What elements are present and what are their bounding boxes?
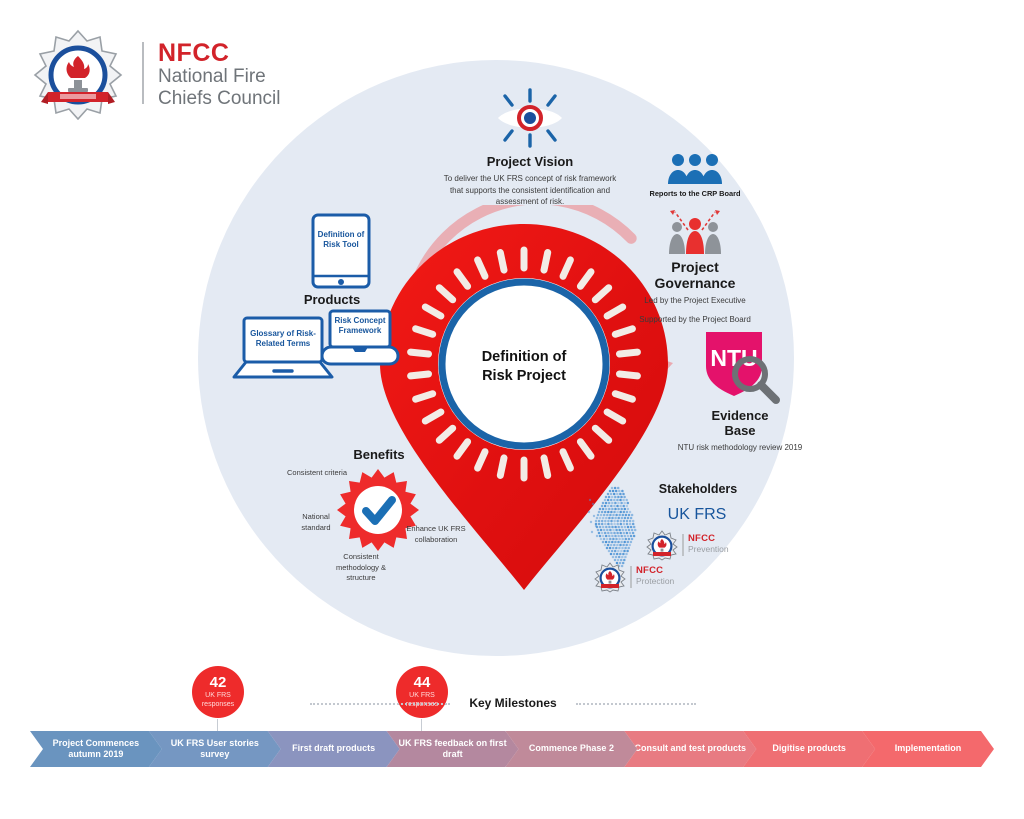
timeline-step[interactable]: Implementation xyxy=(862,731,994,767)
response-count: 42 xyxy=(210,675,227,690)
response-badge: 44 UK FRS responses xyxy=(396,666,448,718)
center-pin-label: Definition of Risk Project xyxy=(452,348,596,386)
project-vision-block: Project Vision To deliver the UK FRS con… xyxy=(430,88,630,208)
evidence-base-title: Evidence Base xyxy=(672,408,808,439)
nfcc-protection-logo: NFCC Protection xyxy=(594,562,704,594)
nfcc-protection-acronym: NFCC xyxy=(636,565,663,576)
timeline-step[interactable]: Commence Phase 2 xyxy=(506,731,638,767)
stakeholders-block: Stakeholders UK FRS NFCC Prevention NFCC… xyxy=(586,478,766,603)
governance-title-line-2: Governance xyxy=(620,275,770,291)
timeline-connector xyxy=(421,719,422,731)
benefit-item-1: Consistent criteria xyxy=(286,468,348,479)
sublogo-divider xyxy=(682,534,684,556)
product-laptop-small-label: Risk Concept Framework xyxy=(328,316,392,337)
evidence-base-body: NTU risk methodology review 2019 xyxy=(672,442,808,454)
center-title-line-2: Risk Project xyxy=(452,367,596,386)
timeline-step[interactable]: Project Commences autumn 2019 xyxy=(30,731,162,767)
governance-body-1: Led by the Project Executive xyxy=(620,295,770,307)
project-vision-body: To deliver the UK FRS concept of risk fr… xyxy=(442,173,618,208)
project-vision-title: Project Vision xyxy=(430,154,630,169)
evidence-title-line-2: Base xyxy=(672,423,808,438)
nfcc-prevention-logo: NFCC Prevention xyxy=(646,530,756,562)
benefits-title: Benefits xyxy=(334,447,424,462)
milestones-timeline: Project Commences autumn 2019UK FRS User… xyxy=(30,731,994,767)
nfcc-logo: NFCC National Fire Chiefs Council xyxy=(30,28,320,123)
three-persons-icon xyxy=(658,200,732,256)
logo-wordmark: NFCC National Fire Chiefs Council xyxy=(158,40,281,109)
timeline-step[interactable]: First draft products xyxy=(268,731,400,767)
products-title: Products xyxy=(272,292,392,307)
reports-to-crp-board-label: Reports to the CRP Board xyxy=(620,189,770,198)
response-caption-line-1: UK FRS xyxy=(202,692,234,701)
project-governance-block: Reports to the CRP Board Project Governa… xyxy=(620,152,770,325)
project-governance-title: Project Governance xyxy=(620,259,770,291)
response-caption-line-2: responses xyxy=(202,701,234,710)
nfcc-crest-icon xyxy=(646,530,678,561)
logo-divider xyxy=(142,42,144,104)
benefits-block: Benefits Consistent criteria National st… xyxy=(272,442,482,587)
nfcc-prevention-acronym: NFCC xyxy=(688,533,715,544)
timeline-step[interactable]: UK FRS User stories survey xyxy=(149,731,281,767)
center-title-line-1: Definition of xyxy=(452,348,596,367)
dotted-rule-right xyxy=(576,703,696,706)
dotted-rule-left xyxy=(310,703,450,706)
governance-title-line-1: Project xyxy=(620,259,770,275)
governance-body-2: Supported by the Project Board xyxy=(620,314,770,326)
product-tablet-label: Definition of Risk Tool xyxy=(314,230,368,250)
benefit-item-4: Enhance UK FRS collaboration xyxy=(400,524,472,545)
benefit-item-3: Consistent methodology & structure xyxy=(326,552,396,584)
uk-frs-label: UK FRS xyxy=(642,506,752,524)
response-caption: UK FRS responses xyxy=(202,692,234,709)
product-laptop-large-label: Glossary of Risk-Related Terms xyxy=(244,329,322,350)
response-caption: UK FRS responses xyxy=(406,692,438,709)
timeline-step[interactable]: Consult and test products xyxy=(624,731,756,767)
eye-icon xyxy=(480,88,580,148)
benefit-item-2: National standard xyxy=(288,512,344,533)
evidence-title-line-1: Evidence xyxy=(672,408,808,423)
uk-map-dotted-icon xyxy=(586,486,652,574)
products-block: Definition of Risk Tool Products Glossar… xyxy=(210,212,400,392)
logo-line-1: National Fire xyxy=(158,66,281,87)
sublogo-divider xyxy=(630,566,632,588)
timeline-step[interactable]: UK FRS feedback on first draft xyxy=(387,731,519,767)
response-caption-line-1: UK FRS xyxy=(406,692,438,701)
response-badge: 42 UK FRS responses xyxy=(192,666,244,718)
nfcc-prevention-division: Prevention xyxy=(688,544,729,554)
evidence-base-block: NTU Evidence Base NTU risk methodology r… xyxy=(672,328,808,453)
ntu-shield-icon: NTU xyxy=(688,328,792,406)
nfcc-protection-division: Protection xyxy=(636,576,674,586)
nfcc-crest-icon xyxy=(594,562,626,593)
key-milestones-label: Key Milestones xyxy=(458,696,568,710)
response-count: 44 xyxy=(414,675,431,690)
logo-line-2: Chiefs Council xyxy=(158,88,281,109)
nfcc-crest-icon xyxy=(30,28,126,120)
stakeholders-title: Stakeholders xyxy=(638,482,758,496)
logo-acronym: NFCC xyxy=(158,40,281,66)
tablet-icon xyxy=(310,212,372,290)
timeline-connector xyxy=(217,719,218,731)
group-of-people-icon xyxy=(664,152,726,186)
timeline-step[interactable]: Digitise products xyxy=(743,731,875,767)
